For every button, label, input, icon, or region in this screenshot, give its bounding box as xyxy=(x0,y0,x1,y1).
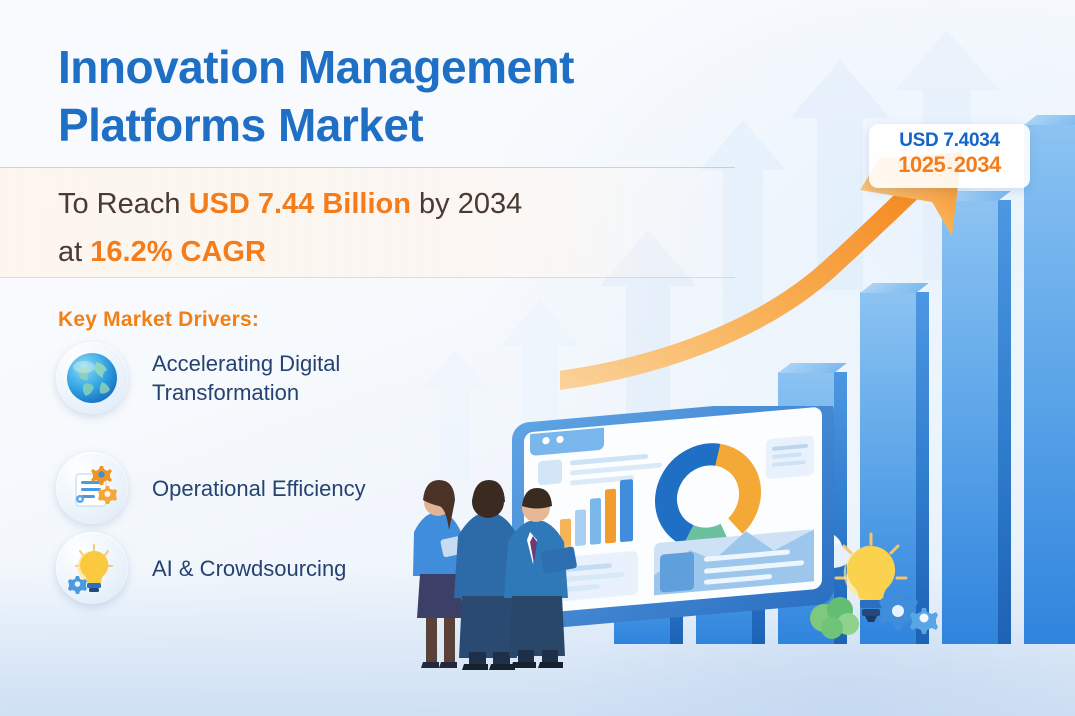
badge-value: USD 7.4034 xyxy=(878,130,1021,152)
badge-range-separator: - xyxy=(945,159,954,176)
lightbulb-gears-icon xyxy=(56,532,128,604)
infographic-canvas: Innovation Management Platforms Market T… xyxy=(0,0,1075,716)
subtitle-cagr: 16.2% CAGR xyxy=(90,236,266,268)
driver-label: AI & Crowdsourcing xyxy=(152,554,346,583)
leaves-icon xyxy=(806,588,866,645)
driver-item-digital-transformation: Accelerating Digital Transformation xyxy=(56,342,452,414)
forecast-badge: USD 7.4034 1025-2034 xyxy=(869,124,1030,188)
badge-range-end: 2034 xyxy=(954,152,1001,177)
gears-icon xyxy=(876,586,942,641)
globe-icon xyxy=(56,342,128,414)
subtitle: To Reach USD 7.44 Billion by 2034 at 16.… xyxy=(58,180,738,276)
person-man-right xyxy=(504,488,577,668)
subtitle-lead: To Reach xyxy=(58,188,189,220)
page-title: Innovation Management Platforms Market xyxy=(58,38,718,154)
driver-label: Accelerating Digital Transformation xyxy=(152,349,452,407)
badge-range: 1025-2034 xyxy=(878,152,1021,180)
driver-item-operational-efficiency: Operational Efficiency xyxy=(56,452,366,524)
bar-2034 xyxy=(1024,124,1075,644)
driver-item-ai-crowdsourcing: AI & Crowdsourcing xyxy=(56,532,346,604)
document-gears-icon xyxy=(56,452,128,524)
subtitle-line2-lead: at xyxy=(58,236,90,268)
subtitle-mid: by 2034 xyxy=(411,188,522,220)
driver-label: Operational Efficiency xyxy=(152,474,366,503)
title-line-2: Platforms Market xyxy=(58,96,718,154)
title-line-1: Innovation Management xyxy=(58,41,574,93)
subtitle-value: USD 7.44 Billion xyxy=(189,188,411,220)
business-people-illustration xyxy=(390,466,580,683)
drivers-heading: Key Market Drivers: xyxy=(58,308,259,332)
badge-range-start: 1025 xyxy=(898,152,945,177)
